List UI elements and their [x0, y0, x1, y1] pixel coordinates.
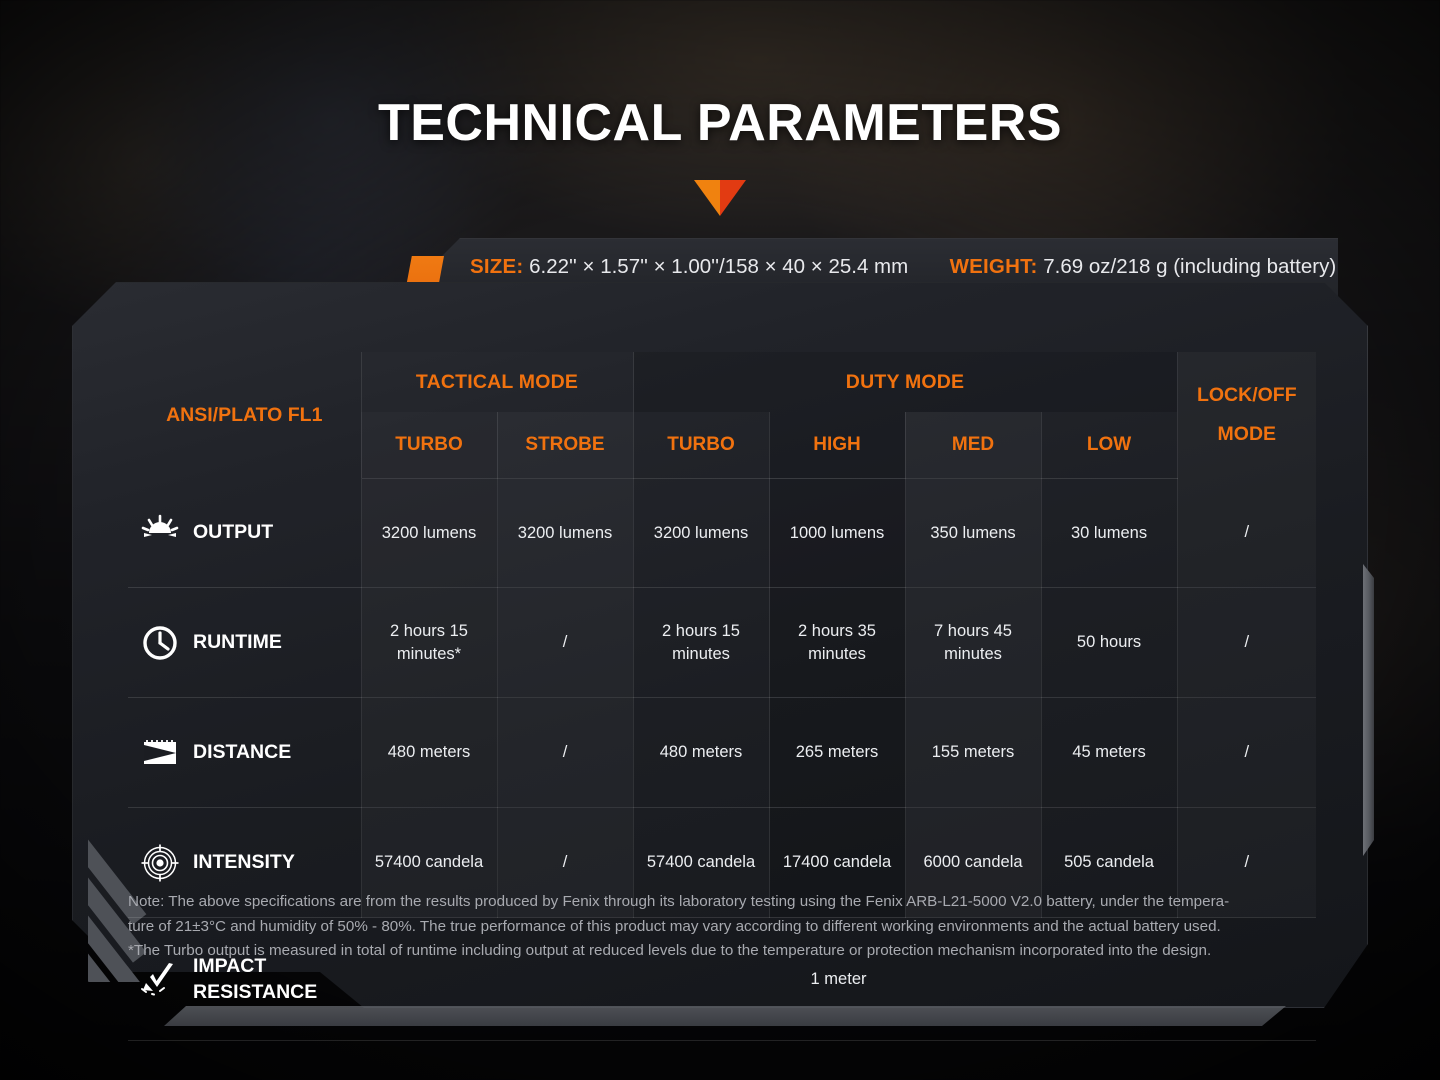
cell-distance-duty-turbo: 480 meters: [633, 698, 769, 808]
panel-right-rail: [1363, 564, 1374, 856]
size-value: 6.22'' × 1.57'' × 1.00''/158 × 40 × 25.4…: [529, 255, 908, 278]
page-title: TECHNICAL PARAMETERS: [0, 93, 1440, 153]
cell-distance-tac-strobe: /: [497, 698, 633, 808]
cell-runtime-tac-strobe: /: [497, 588, 633, 698]
cell-output-lockoff: /: [1177, 478, 1316, 588]
row-label-text: INTENSITY: [193, 849, 295, 876]
sun-rays-icon: [140, 513, 180, 553]
cell-output-tac-turbo: 3200 lumens: [361, 478, 497, 588]
cell-runtime-duty-low: 50 hours: [1041, 588, 1177, 698]
cell-output-duty-turbo: 3200 lumens: [633, 478, 769, 588]
row-label-text: DISTANCE: [193, 739, 291, 766]
footer-note-line-3: *The Turbo output is measured in total o…: [128, 939, 1340, 964]
ruler-beam-icon: [140, 733, 180, 773]
size-label: SIZE:: [470, 255, 523, 278]
water-drop-icon: [140, 1076, 180, 1080]
cell-runtime-tac-turbo: 2 hours 15 minutes*: [361, 588, 497, 698]
spec-panel: ANSI/PLATO FL1 TACTICAL MODE DUTY MODE L…: [72, 282, 1368, 1008]
table-row: DISTANCE 480 meters / 480 meters 265 met…: [128, 698, 1316, 808]
ansi-plato-label: ANSI/PLATO FL1: [128, 352, 361, 478]
column-header-duty-high: HIGH: [769, 412, 905, 478]
footer-note-line-2: ture of 21±3°C and humidity of 50% - 80%…: [128, 915, 1340, 940]
column-header-duty-turbo: TURBO: [633, 412, 769, 478]
cell-distance-duty-med: 155 meters: [905, 698, 1041, 808]
cell-runtime-duty-med: 7 hours 45 minutes: [905, 588, 1041, 698]
cell-runtime-duty-high: 2 hours 35 minutes: [769, 588, 905, 698]
group-header-tactical: TACTICAL MODE: [361, 352, 633, 412]
cell-output-duty-high: 1000 lumens: [769, 478, 905, 588]
lockoff-line-2: MODE: [1178, 415, 1317, 454]
specifications-table: ANSI/PLATO FL1 TACTICAL MODE DUTY MODE L…: [128, 352, 1316, 1080]
cell-output-duty-low: 30 lumens: [1041, 478, 1177, 588]
lockoff-line-1: LOCK/OFF: [1178, 376, 1317, 415]
lockoff-mode-header: LOCK/OFF MODE: [1177, 352, 1316, 478]
cell-output-duty-med: 350 lumens: [905, 478, 1041, 588]
row-label-submersible: SUBMERSIBLE: [128, 1041, 361, 1080]
table-row: OUTPUT 3200 lumens 3200 lumens 3200 lume…: [128, 478, 1316, 588]
cell-submersible-value: IP68: [361, 1041, 1316, 1080]
column-header-duty-med: MED: [905, 412, 1041, 478]
weight-value: 7.69 oz/218 g (including battery): [1043, 255, 1336, 278]
chevron-down-icon: [694, 178, 746, 218]
cell-distance-duty-high: 265 meters: [769, 698, 905, 808]
impact-check-icon: [140, 959, 180, 999]
cell-runtime-duty-turbo: 2 hours 15 minutes: [633, 588, 769, 698]
banner-specs-line: SIZE: 6.22'' × 1.57'' × 1.00''/158 × 40 …: [470, 255, 1324, 279]
cell-distance-lockoff: /: [1177, 698, 1316, 808]
cell-distance-tac-turbo: 480 meters: [361, 698, 497, 808]
table-row: SUBMERSIBLE IP68: [128, 1041, 1316, 1080]
group-header-duty: DUTY MODE: [633, 352, 1177, 412]
cell-distance-duty-low: 45 meters: [1041, 698, 1177, 808]
table-group-header-row: ANSI/PLATO FL1 TACTICAL MODE DUTY MODE L…: [128, 352, 1316, 412]
clock-icon: [140, 623, 180, 663]
row-label-text: OUTPUT: [193, 519, 273, 546]
row-label-text: RUNTIME: [193, 629, 282, 656]
cell-output-tac-strobe: 3200 lumens: [497, 478, 633, 588]
weight-label: WEIGHT:: [950, 255, 1038, 278]
footer-note: Note: The above specifications are from …: [128, 890, 1340, 964]
table-row: RUNTIME 2 hours 15 minutes* / 2 hours 15…: [128, 588, 1316, 698]
column-header-tac-turbo: TURBO: [361, 412, 497, 478]
column-header-tac-strobe: STROBE: [497, 412, 633, 478]
row-label-output: OUTPUT: [128, 478, 361, 588]
column-header-duty-low: LOW: [1041, 412, 1177, 478]
cell-runtime-lockoff: /: [1177, 588, 1316, 698]
row-label-runtime: RUNTIME: [128, 588, 361, 698]
row-label-distance: DISTANCE: [128, 698, 361, 808]
target-icon: [140, 843, 180, 883]
footer-note-line-1: Note: The above specifications are from …: [128, 890, 1340, 915]
